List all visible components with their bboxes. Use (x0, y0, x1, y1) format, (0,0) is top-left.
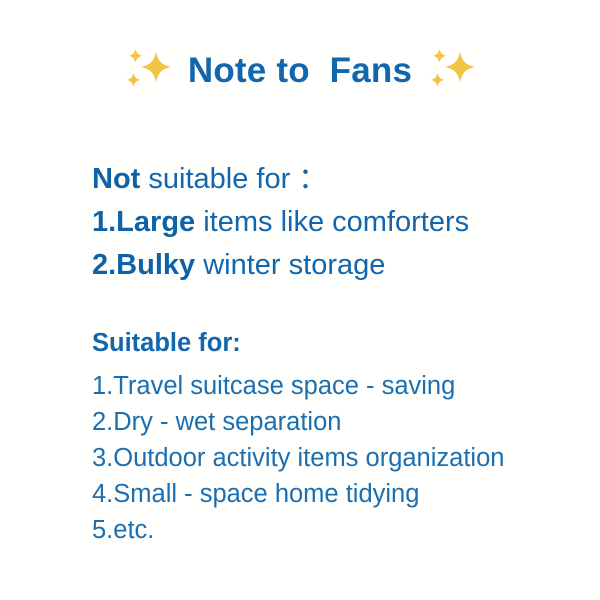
not-suitable-section: Not suitable for ： 1.Large items like co… (92, 158, 562, 287)
suitable-heading: Suitable for: (92, 325, 572, 361)
suitable-item: 1.Travel suitcase space - saving (92, 368, 572, 404)
page-title: Note to Fans (188, 53, 412, 88)
not-suitable-item: 1.Large items like comforters (92, 201, 562, 244)
info-card: Note to Fans Not suitable for ： 1.Large … (0, 0, 600, 600)
not-suitable-heading: Not suitable for ： (92, 158, 562, 201)
suitable-section: Suitable for: 1.Travel suitcase space - … (92, 325, 572, 548)
not-suitable-item-prefix: 1.Large (92, 206, 195, 238)
sparkles-icon (122, 44, 174, 96)
not-suitable-item-prefix: 2.Bulky (92, 249, 195, 281)
not-suitable-item-text: items like comforters (195, 206, 469, 238)
not-suitable-item: 2.Bulky winter storage (92, 244, 562, 287)
suitable-item: 5.etc. (92, 512, 572, 548)
page-title-row: Note to Fans (0, 44, 600, 96)
not-suitable-item-text: winter storage (195, 249, 385, 281)
suitable-item: 3.Outdoor activity items organization (92, 440, 572, 476)
not-suitable-heading-rest: suitable for ： (140, 163, 327, 195)
suitable-item: 4.Small - space home tidying (92, 476, 572, 512)
suitable-item: 2.Dry - wet separation (92, 404, 572, 440)
sparkles-icon (426, 44, 478, 96)
not-suitable-heading-bold: Not (92, 163, 140, 195)
